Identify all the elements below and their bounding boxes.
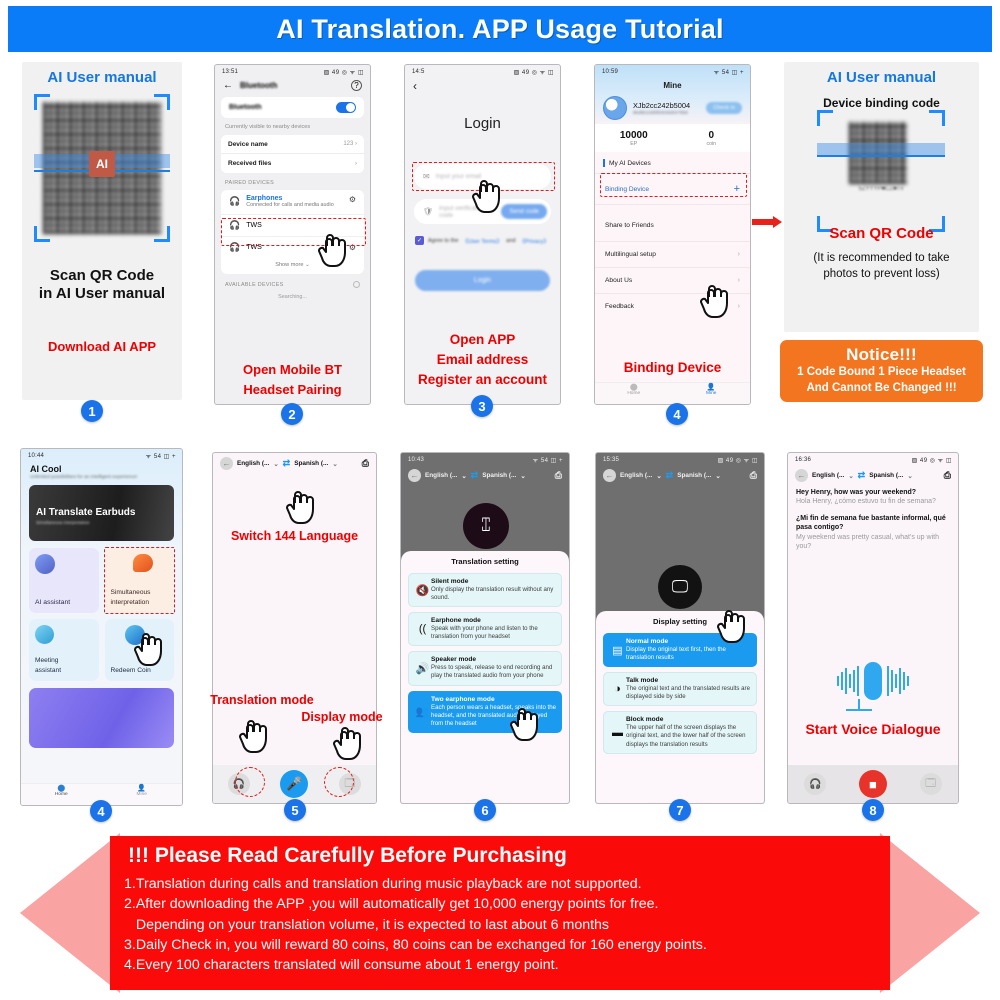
back-arrow-icon[interactable]: ← xyxy=(603,469,616,482)
step-badge-3: 3 xyxy=(471,395,493,417)
banner-line: Depending on your translation volume, it… xyxy=(124,915,876,935)
step-badge-1: 1 xyxy=(81,400,103,422)
mode-card-talk[interactable]: ◑ Talk mode The original text and the tr… xyxy=(603,672,757,706)
target-language[interactable]: Spanish (... xyxy=(677,472,711,479)
login-button[interactable]: Login xyxy=(415,270,550,291)
language-bar: ← English (... ⌄ ⇄ Spanish (... ⌄ ⎙ xyxy=(213,453,376,474)
received-files-label: Received files xyxy=(228,160,271,167)
normal-mode-icon: ▤ xyxy=(609,644,626,657)
account-hash: 8bd8b10d5f50638d0478b6 xyxy=(633,110,700,115)
export-icon[interactable]: ⎙ xyxy=(362,458,369,469)
swap-languages-icon[interactable]: ⇄ xyxy=(471,470,479,481)
earphones-title: Earphones xyxy=(246,195,343,202)
status-bar: 15:35 ▨ 49 ◎ ᯤ ◫ xyxy=(596,453,764,465)
display-mode-cta: Display mode xyxy=(282,710,402,724)
step-badge-2: 2 xyxy=(281,403,303,425)
panel-3-cta-line1: Open APP xyxy=(404,332,561,347)
translation-mode-button[interactable]: 🎧 xyxy=(804,773,826,795)
back-arrow-icon[interactable]: ‹ xyxy=(405,77,560,93)
target-language[interactable]: Spanish (... xyxy=(294,460,328,467)
export-icon[interactable]: ⎙ xyxy=(944,470,951,481)
mic-button[interactable]: 🎤 xyxy=(280,770,308,798)
source-language[interactable]: English (... xyxy=(237,460,269,467)
status-time: 14:5 xyxy=(412,69,424,75)
received-files-row[interactable]: Received files › xyxy=(221,154,364,173)
home-icon: ⬤ xyxy=(21,784,102,792)
panel-2-bluetooth-settings: 13:51 ▨ 49 ◎ ᯤ ◫ ← Bluetooth ? Bluetooth… xyxy=(214,64,371,405)
scan-caption-line2: in AI User manual xyxy=(22,285,182,302)
status-time: 10:44 xyxy=(28,453,44,459)
notice-box: Notice!!! 1 Code Bound 1 Piece Headset A… xyxy=(780,340,983,402)
status-icons: ᯤ 54 ◫ + xyxy=(533,456,563,464)
avatar[interactable] xyxy=(603,96,627,120)
agree-and: and xyxy=(506,238,515,244)
banner-line: 1.Translation during calls and translati… xyxy=(124,874,876,894)
step-badge-7: 7 xyxy=(669,799,691,821)
app-title: AI Cool xyxy=(21,461,182,475)
banner-line: 3.Daily Check in, you will reward 80 coi… xyxy=(124,935,876,955)
mic-waveform-illustration xyxy=(788,653,958,709)
source-language[interactable]: English (... xyxy=(425,472,457,479)
translation-mode-fab: ⑄ xyxy=(463,503,509,549)
status-bar: 10:59 ᯤ 54 ◫ + xyxy=(595,65,750,77)
panel-3-cta-line3: Register an account xyxy=(400,372,565,387)
status-icons: ▨ 49 ◎ ᯤ ◫ xyxy=(718,456,758,464)
step-badge-4: 4 xyxy=(666,403,688,425)
login-title: Login xyxy=(405,115,560,132)
shield-icon: 🛡 xyxy=(423,207,433,216)
speaker-icon: 🔊 xyxy=(414,662,431,675)
display-mode-button[interactable]: 🗔 xyxy=(920,773,942,795)
chevron-down-icon: ⌄ xyxy=(305,262,310,268)
banner-title: !!! Please Read Carefully Before Purchas… xyxy=(128,844,876,868)
binding-qr-scan-area: 5ZYYYP■CZ■Tv xyxy=(817,110,945,232)
source-language[interactable]: English (... xyxy=(812,472,844,479)
binding-device-highlight xyxy=(600,173,747,197)
chevron-right-icon: › xyxy=(738,277,740,284)
mode-card-earphone[interactable]: (( Earphone mode Speak with your phone a… xyxy=(408,612,562,646)
export-icon[interactable]: ⎙ xyxy=(750,470,757,481)
step-badge-6: 6 xyxy=(474,799,496,821)
status-bar: 10:44 ᯤ 54 ◫ + xyxy=(21,449,182,461)
tab-home[interactable]: ⬤ Home xyxy=(595,383,673,404)
language-bar: ← English (... ⌄ ⇄ Spanish (... ⌄ ⎙ xyxy=(788,465,958,486)
back-arrow-icon[interactable]: ← xyxy=(220,457,233,470)
back-arrow-icon[interactable]: ← xyxy=(408,469,421,482)
chevron-down-icon[interactable]: ⌄ xyxy=(715,472,720,480)
status-icons: ▨ 49 ◎ ᯤ ◫ xyxy=(324,68,364,76)
earphone-icon: (( xyxy=(414,623,431,635)
device-name-value: 123 xyxy=(343,141,353,147)
notice-line2: And Cannot Be Changed !!! xyxy=(806,381,956,397)
bluetooth-toggle-label: Bluetooth xyxy=(229,104,262,111)
status-icons: ᯤ 54 ◫ + xyxy=(146,452,176,460)
chevron-right-icon: › xyxy=(738,251,740,258)
tile-meeting-assistant[interactable]: Meeting assistant xyxy=(29,619,99,681)
display-mode-highlight xyxy=(324,767,354,797)
step-badge-panel-6: 4 xyxy=(90,800,112,822)
swap-languages-icon[interactable]: ⇄ xyxy=(283,458,291,469)
status-bar: 13:51 ▨ 49 ◎ ᯤ ◫ xyxy=(215,65,370,77)
status-time: 13:51 xyxy=(222,69,238,75)
visible-note: Currently visible to nearby devices xyxy=(215,118,370,135)
bluetooth-nav-title: Bluetooth xyxy=(240,81,277,90)
panel-6-ai-cool-home: 10:44 ᯤ 54 ◫ + AI Cool Unlimited possibi… xyxy=(20,448,183,806)
ep-stat: 10000 EP xyxy=(595,130,673,147)
check-in-button[interactable]: Check in xyxy=(706,102,742,114)
paired-devices-header: PAIRED DEVICES xyxy=(215,173,370,190)
scan-caption-line1: Scan QR Code xyxy=(22,267,182,284)
start-voice-dialogue-cta: Start Voice Dialogue xyxy=(788,721,958,737)
tile-ai-assistant[interactable]: AI assistant xyxy=(29,548,99,613)
panel-1-user-manual: AI User manual AI Scan QR Code in AI Use… xyxy=(22,62,182,400)
tap-hand-cursor xyxy=(285,489,319,529)
hero-banner[interactable]: AI Translate Earbuds Simultaneous interp… xyxy=(29,485,174,541)
tab-mine[interactable]: 👤 Mine xyxy=(102,784,183,805)
panel-10-voice-dialogue: 16:36 ▨ 49 ◎ ᯤ ◫ ← English (... ⌄ ⇄ Span… xyxy=(787,452,959,804)
send-code-button[interactable]: Send code xyxy=(501,204,547,219)
tap-hand-cursor xyxy=(716,608,750,648)
tile-simultaneous-interpretation[interactable]: Simultaneous interpretation xyxy=(105,548,175,613)
coin-stat: 0 coin xyxy=(673,130,751,147)
share-row[interactable]: Share to Friends xyxy=(595,204,750,241)
banner-arrow-right xyxy=(880,833,980,993)
panel-5-device-binding-code: AI User manual Device binding code 5ZYYY… xyxy=(784,62,979,332)
swap-languages-icon[interactable]: ⇄ xyxy=(666,470,674,481)
language-bar: ← English (... ⌄ ⇄ Spanish (... ⌄ ⎙ xyxy=(596,465,764,486)
language-bar: ← English (... ⌄ ⇄ Spanish (... ⌄ ⎙ xyxy=(401,465,569,486)
notice-line1: 1 Code Bound 1 Piece Headset xyxy=(797,365,966,381)
two-earphone-icon: 👥 xyxy=(414,705,431,718)
download-app-cta: Download AI APP xyxy=(22,339,182,354)
available-devices-header: AVAILABLE DEVICES xyxy=(225,282,284,288)
coin-label: coin xyxy=(673,141,751,147)
device-name-row[interactable]: Device name 123 › xyxy=(221,135,364,154)
chevron-down-icon[interactable]: ⌄ xyxy=(273,460,278,468)
tap-hand-cursor xyxy=(238,718,272,758)
banner-arrow-left xyxy=(20,833,120,993)
account-id: XJb2cc242b5004 xyxy=(633,101,700,110)
mode-card-silent[interactable]: 🔇 Silent mode Only display the translati… xyxy=(408,573,562,607)
page-title: AI Translation. APP Usage Tutorial xyxy=(276,14,723,45)
privacy-link[interactable]: 《Privacy》 xyxy=(520,237,550,245)
tab-mine[interactable]: 👤 Mine xyxy=(673,383,751,404)
manual-title: AI User manual xyxy=(22,69,182,86)
searching-text: Searching... xyxy=(215,294,370,300)
paired-device-earphones[interactable]: 🎧 Earphones Connected for calls and medi… xyxy=(221,190,364,214)
tap-hand-cursor xyxy=(332,725,366,765)
tap-hand-cursor xyxy=(471,178,505,218)
silent-icon: 🔇 xyxy=(414,584,431,597)
transcript-list: Hey Henry, how was your weekend? Hola He… xyxy=(788,486,958,552)
meeting-assistant-icon xyxy=(35,625,54,644)
purchase-notice-banner: !!! Please Read Carefully Before Purchas… xyxy=(0,833,1000,993)
my-ai-devices-header: My AI Devices xyxy=(595,152,750,173)
qr-code-scan-area: AI xyxy=(34,94,170,242)
panel-4-mine: 10:59 ᯤ 54 ◫ + Mine XJb2cc242b5004 8bd8b… xyxy=(594,64,751,405)
chevron-down-icon[interactable]: ⌄ xyxy=(656,472,661,480)
target-language[interactable]: Spanish (... xyxy=(869,472,903,479)
binding-code-text: 5ZYYYP■CZ■Tv xyxy=(817,186,945,192)
hero-title: AI Translate Earbuds xyxy=(36,507,135,518)
chevron-right-icon: › xyxy=(738,303,740,310)
hero-subtitle: Simultaneous interpretation xyxy=(36,520,89,525)
ai-assistant-icon xyxy=(35,554,55,574)
swap-languages-icon[interactable]: ⇄ xyxy=(858,470,866,481)
status-time: 16:36 xyxy=(795,457,811,463)
transcript-item: ¿Mi fin de semana fue bastante informal,… xyxy=(796,514,950,552)
step-badge-8: 8 xyxy=(862,799,884,821)
tab-home[interactable]: ⬤ Home xyxy=(21,784,102,805)
help-icon[interactable]: ? xyxy=(351,80,362,91)
status-time: 15:35 xyxy=(603,457,619,463)
back-arrow-icon[interactable]: ← xyxy=(223,80,233,91)
chevron-down-icon[interactable]: ⌄ xyxy=(520,472,525,480)
agree-row[interactable]: ✓ Agree to the 《User Terms》 and 《Privacy… xyxy=(415,236,550,245)
agree-text: Agree to the xyxy=(428,238,458,244)
home-icon: ⬤ xyxy=(595,383,673,391)
back-arrow-icon[interactable]: ← xyxy=(795,469,808,482)
manual-title: AI User manual xyxy=(784,69,979,86)
target-language[interactable]: Spanish (... xyxy=(482,472,516,479)
step-badge-5: 5 xyxy=(284,799,306,821)
page-header: AI Translation. APP Usage Tutorial xyxy=(8,6,992,52)
status-bar: 14:5 ▨ 49 ◎ ᯤ ◫ xyxy=(405,65,560,77)
ai-logo-badge: AI xyxy=(89,151,115,177)
notice-title: Notice!!! xyxy=(846,345,917,365)
status-bar: 16:36 ▨ 49 ◎ ᯤ ◫ xyxy=(788,453,958,465)
panel-8-translation-setting: 10:43 ᯤ 54 ◫ + ← English (... ⌄ ⇄ Spanis… xyxy=(400,452,570,804)
person-icon: 👤 xyxy=(102,784,183,792)
gear-icon[interactable]: ⚙ xyxy=(349,195,356,204)
coin-value: 0 xyxy=(673,130,751,141)
status-icons: ᯤ 54 ◫ + xyxy=(714,68,744,76)
panel-4-cta: Binding Device xyxy=(594,360,751,375)
multilingual-row[interactable]: Multilingual setup › xyxy=(595,241,750,267)
ep-label: EP xyxy=(595,141,673,147)
chevron-down-icon[interactable]: ⌄ xyxy=(907,472,912,480)
bluetooth-toggle[interactable] xyxy=(336,102,356,113)
status-time: 10:43 xyxy=(408,457,424,463)
status-bar: 10:43 ᯤ 54 ◫ + xyxy=(401,453,569,465)
tap-hand-cursor xyxy=(509,706,543,746)
flow-arrow-icon xyxy=(752,216,782,228)
translation-mode-highlight xyxy=(235,767,265,797)
chevron-down-icon[interactable]: ⌄ xyxy=(332,460,337,468)
mode-list: ▤ Normal mode Display the original text … xyxy=(603,633,757,754)
control-bar: 🎧 ■ 🗔 xyxy=(788,765,958,803)
scan-qr-label: Scan QR Code xyxy=(784,225,979,242)
mode-card-speaker[interactable]: 🔊 Speaker mode Press to speak, release t… xyxy=(408,651,562,685)
switch-language-cta: Switch 144 Language xyxy=(213,529,376,543)
tap-hand-cursor xyxy=(699,283,733,323)
agree-checkbox[interactable]: ✓ xyxy=(415,236,424,245)
user-terms-link[interactable]: 《User Terms》 xyxy=(462,237,502,245)
status-icons: ▨ 49 ◎ ᯤ ◫ xyxy=(912,456,952,464)
panel-3-cta-line2: Email address xyxy=(404,352,561,367)
translation-mode-cta: Translation mode xyxy=(197,693,327,707)
banner-line: 4.Every 100 characters translated will c… xyxy=(124,955,876,975)
chevron-right-icon: › xyxy=(355,160,357,167)
panel-2-cta-line2: Headset Pairing xyxy=(214,382,371,397)
source-language[interactable]: English (... xyxy=(620,472,652,479)
panel-2-cta-line1: Open Mobile BT xyxy=(214,362,371,377)
display-mode-fab: 🖵 xyxy=(658,565,702,609)
device-name-label: Device name xyxy=(228,141,268,148)
mode-card-block[interactable]: ▬ Block mode The upper half of the scree… xyxy=(603,711,757,753)
chevron-down-icon[interactable]: ⌄ xyxy=(848,472,853,480)
spinner-icon xyxy=(353,281,360,288)
panel-9-display-setting: 15:35 ▨ 49 ◎ ᯤ ◫ ← English (... ⌄ ⇄ Span… xyxy=(595,452,765,804)
status-icons: ▨ 49 ◎ ᯤ ◫ xyxy=(514,68,554,76)
banner-line: 2.After downloading the APP ,you will au… xyxy=(124,894,876,914)
mine-title: Mine xyxy=(595,77,750,96)
app-subtitle: Unlimited possibilities for an intellige… xyxy=(21,475,182,485)
stop-recording-button[interactable]: ■ xyxy=(859,770,887,798)
sheet-title: Translation setting xyxy=(408,557,562,566)
headphones-icon: 🎧 xyxy=(229,196,240,207)
ep-value: 10000 xyxy=(595,130,673,141)
talk-mode-icon: ◑ xyxy=(609,683,626,695)
tap-hand-cursor xyxy=(317,232,351,272)
device-binding-subtitle: Device binding code xyxy=(784,96,979,110)
block-mode-icon: ▬ xyxy=(609,727,626,739)
transcript-item: Hey Henry, how was your weekend? Hola He… xyxy=(796,488,950,507)
banner-list: 1.Translation during calls and translati… xyxy=(124,874,876,975)
export-icon[interactable]: ⎙ xyxy=(555,470,562,481)
status-time: 10:59 xyxy=(602,69,618,75)
promo-banner[interactable] xyxy=(29,688,174,748)
chevron-down-icon[interactable]: ⌄ xyxy=(461,472,466,480)
photo-note-line1: (It is recommended to take xyxy=(784,252,979,264)
photo-note-line2: photos to prevent loss) xyxy=(784,268,979,280)
simultaneous-tile-highlight xyxy=(104,547,176,614)
tap-hand-cursor xyxy=(133,631,167,671)
earphones-subtitle: Connected for calls and media audio xyxy=(246,202,343,209)
person-icon: 👤 xyxy=(673,383,751,391)
